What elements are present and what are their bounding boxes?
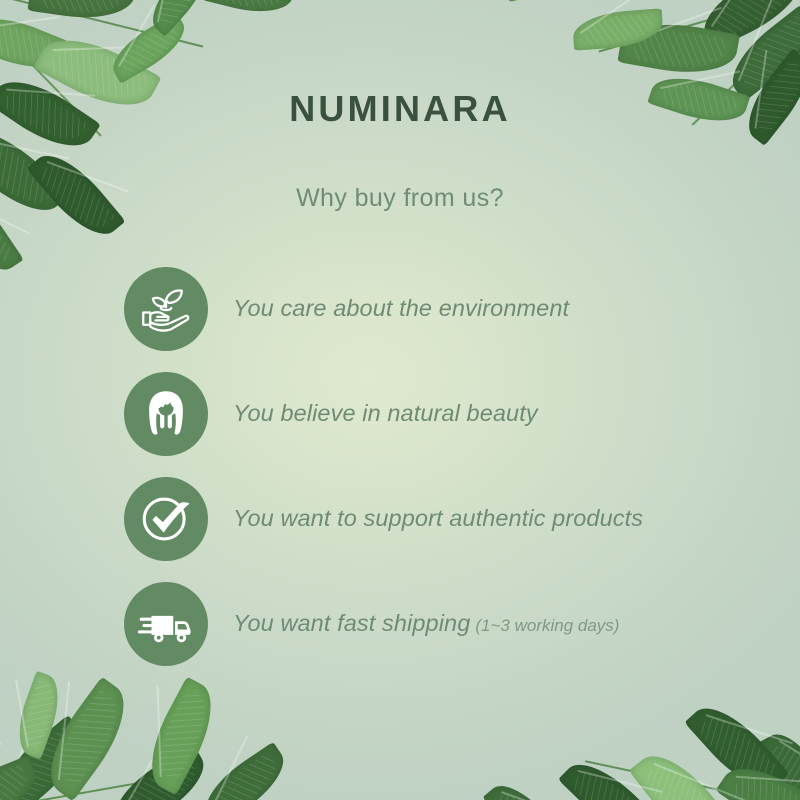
delivery-truck-icon <box>137 595 195 653</box>
benefit-label-main: You believe in natural beauty <box>233 400 538 426</box>
check-circle-icon <box>137 490 195 548</box>
benefit-label: You want fast shipping(1~3 working days) <box>233 610 619 637</box>
benefit-icon-badge <box>124 582 208 666</box>
page-title: NUMINARA <box>0 88 800 130</box>
list-item: You care about the environment <box>124 256 784 361</box>
benefit-icon-badge <box>124 372 208 456</box>
subheading: Why buy from us? <box>0 184 800 213</box>
promo-poster: NUMINARA Why buy from us? <box>0 0 800 800</box>
benefits-list: You care about the environment Y <box>124 256 784 676</box>
benefit-icon-badge <box>124 477 208 561</box>
benefit-icon-badge <box>124 267 208 351</box>
benefit-label-main: You care about the environment <box>233 295 569 321</box>
list-item: You want fast shipping(1~3 working days) <box>124 571 784 676</box>
woman-long-hair-icon <box>139 387 193 441</box>
benefit-label-main: You want fast shipping <box>233 610 470 636</box>
benefit-label: You care about the environment <box>233 295 569 322</box>
benefit-label: You want to support authentic products <box>233 505 643 532</box>
list-item: You want to support authentic products <box>124 466 784 571</box>
benefit-label-note: (1~3 working days) <box>475 616 619 635</box>
benefit-label: You believe in natural beauty <box>233 400 538 427</box>
hand-holding-seedling-icon <box>138 281 194 337</box>
list-item: You believe in natural beauty <box>124 361 784 466</box>
benefit-label-main: You want to support authentic products <box>233 505 643 531</box>
